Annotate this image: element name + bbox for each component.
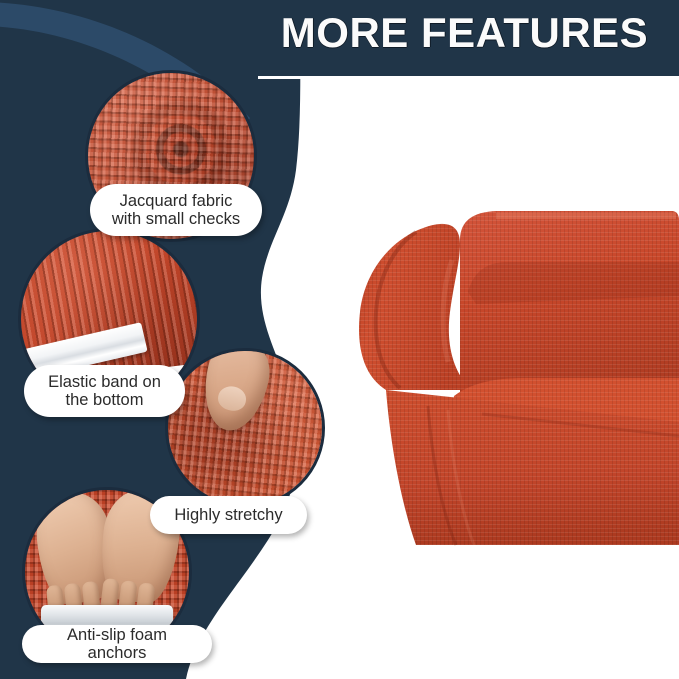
- feature-circle-highly-stretchy: [165, 348, 325, 508]
- feature-label-anti-slip-foam: Anti-slip foam anchors: [22, 625, 212, 663]
- sofa-slipcover-image: [356, 200, 679, 550]
- stretched-fabric-photo-icon: [168, 351, 322, 505]
- thumbnail-icon: [216, 383, 248, 412]
- header-bar: MORE FEATURES: [250, 0, 679, 76]
- thumb-icon: [196, 348, 276, 436]
- feature-label-highly-stretchy: Highly stretchy: [150, 496, 307, 534]
- feature-infographic: Jacquard fabric with small checks Elasti…: [0, 0, 679, 679]
- feature-label-elastic-band: Elastic band on the bottom: [24, 365, 185, 417]
- page-title: MORE FEATURES: [250, 0, 679, 70]
- feature-label-jacquard: Jacquard fabric with small checks: [90, 184, 262, 236]
- header-underline: [258, 76, 679, 79]
